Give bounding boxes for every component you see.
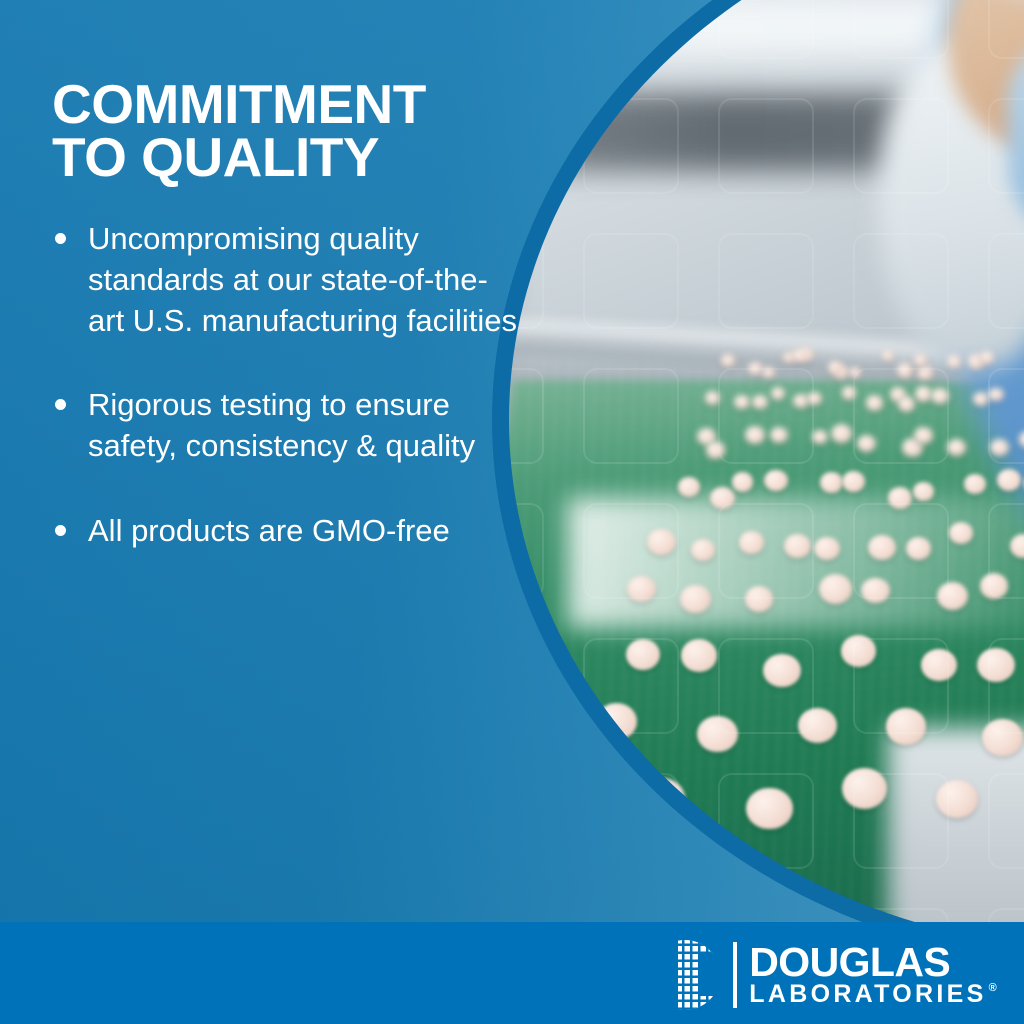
brand-name-secondary-text: LABORATORIES (749, 982, 986, 1007)
watermark-cell (508, 638, 544, 734)
list-item: Rigorous testing to ensure safety, consi… (52, 385, 522, 467)
list-item-text: Rigorous testing to ensure safety, consi… (88, 387, 475, 463)
brand-wordmark: DOUGLAS LABORATORIES® (733, 942, 1000, 1008)
quality-bullet-list: Uncompromising quality standards at our … (52, 219, 522, 552)
page-title: COMMITMENT TO QUALITY (52, 78, 522, 185)
bullet-dot-icon (55, 233, 66, 244)
bullet-dot-icon (55, 399, 66, 410)
brand-logo: DOUGLAS LABORATORIES® (650, 940, 1000, 1010)
promo-poster: COMMITMENT TO QUALITY Uncompromising qua… (0, 0, 1024, 1024)
list-item: Uncompromising quality standards at our … (52, 219, 522, 342)
disc-right-notch (700, 954, 722, 996)
registered-trademark-icon: ® (989, 983, 1000, 994)
copy-block: COMMITMENT TO QUALITY Uncompromising qua… (52, 78, 522, 552)
brand-name-primary: DOUGLAS (749, 943, 1000, 982)
list-item-text: Uncompromising quality standards at our … (88, 221, 517, 338)
watermark-cell (508, 773, 544, 869)
bullet-dot-icon (55, 525, 66, 536)
douglas-disc-icon (650, 940, 720, 1010)
list-item: All products are GMO-free (52, 511, 522, 552)
list-item-text: All products are GMO-free (88, 513, 450, 548)
brand-name-secondary: LABORATORIES® (749, 982, 1000, 1007)
headline-line-2: TO QUALITY (52, 131, 522, 184)
disc-left-crescent (648, 938, 678, 1012)
watermark-cell (508, 0, 544, 59)
